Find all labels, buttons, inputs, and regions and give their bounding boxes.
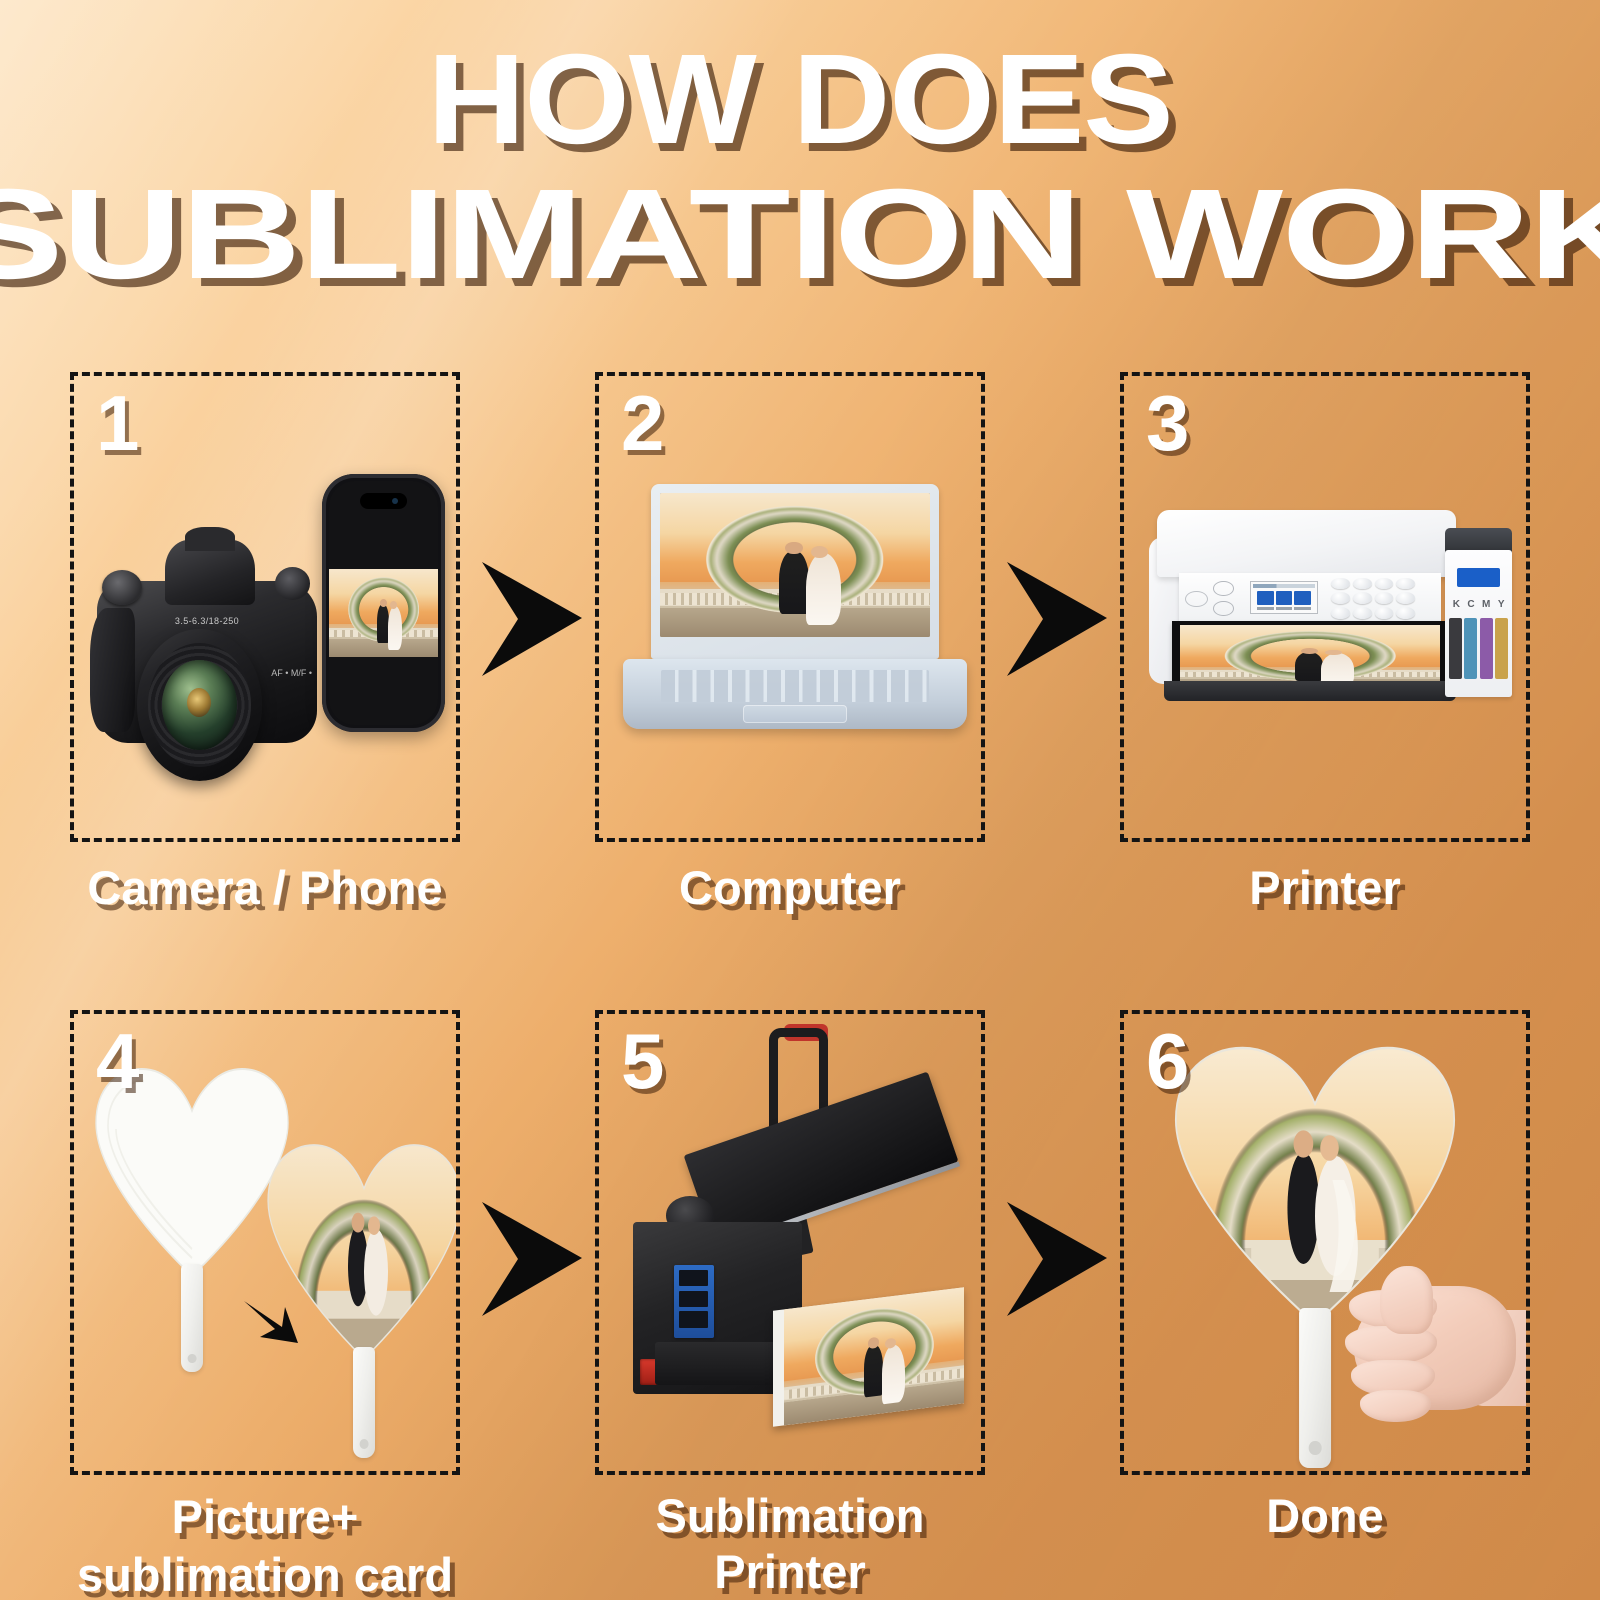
step-caption-4: Picture+ sublimation card: [70, 1488, 460, 1600]
smartphone-icon: [322, 474, 445, 732]
step-panel-2: 2: [595, 372, 985, 842]
heart-fan-handle-printed: [353, 1347, 375, 1459]
camera-lens: [137, 629, 262, 780]
title-line-1: HOW DOES: [0, 34, 1600, 166]
camera-lens-glass: [162, 660, 237, 751]
printer-home-button[interactable]: [1213, 581, 1233, 596]
printer-output-tray: [1172, 621, 1449, 688]
ink-window-k: [1449, 618, 1462, 680]
step-number-1: 1: [96, 384, 139, 462]
step-number-2: 2: [621, 384, 664, 462]
printer-tank-indicator: [1457, 568, 1500, 587]
camera-af-label: AF • M/F •: [271, 667, 312, 679]
transfer-arrow-icon: [242, 1297, 300, 1345]
printer-printed-photo: [1180, 625, 1440, 688]
ink-window-y: [1495, 618, 1508, 680]
camera-grip: [90, 608, 135, 732]
camera-hotshoe: [185, 527, 235, 551]
laptop-base: [623, 659, 967, 729]
heart-fan-handle-blank: [181, 1264, 203, 1372]
step-card-1: 3.5-6.3/18-250 AF • M/F •: [70, 372, 460, 972]
step-card-2: 2 Computer: [595, 372, 985, 972]
phone-dynamic-island: [360, 493, 408, 509]
printer-stop-button[interactable]: [1213, 601, 1233, 616]
phone-wedding-photo: [329, 569, 438, 657]
ink-window-c: [1464, 618, 1477, 680]
laptop-lid: [651, 484, 940, 659]
printer-ink-tank-unit: K C M Y: [1445, 550, 1512, 697]
laptop-trackpad: [743, 705, 846, 723]
camera-shutter-dial: [275, 567, 310, 599]
step-number-3: 3: [1146, 384, 1189, 462]
press-sheet-photo: [784, 1287, 964, 1425]
camera-mode-dial: [102, 570, 142, 605]
step-caption-2: Computer: [595, 860, 985, 916]
laptop-keyboard: [661, 670, 929, 702]
dslr-camera-icon: 3.5-6.3/18-250 AF • M/F •: [82, 516, 332, 786]
heat-press-icon: [611, 1024, 979, 1454]
phone-screen: [329, 481, 438, 725]
step-panel-1: 3.5-6.3/18-250 AF • M/F •: [70, 372, 460, 842]
step-number-4: 4: [96, 1022, 139, 1100]
step-panel-6: 6: [1120, 1010, 1530, 1475]
step-panel-3: K C M Y: [1120, 372, 1530, 842]
printer-tray-lip: [1164, 681, 1456, 701]
printer-ink-windows: [1449, 618, 1508, 680]
laptop-wedding-photo: [660, 493, 931, 637]
infographic-poster: HOW DOES SUBLIMATION WORK: [0, 0, 1600, 1600]
ink-label-y: Y: [1498, 599, 1505, 610]
step-number-6: 6: [1146, 1022, 1189, 1100]
press-digital-controller[interactable]: [674, 1265, 714, 1338]
arrow-step1-to-step2-icon: [478, 558, 586, 680]
step-card-4: 4 Picture+ sublimation card: [70, 1010, 460, 1600]
step-panel-4: 4: [70, 1010, 460, 1475]
camera-lens-label: 3.5-6.3/18-250: [147, 616, 267, 626]
steps-grid: 3.5-6.3/18-250 AF • M/F •: [0, 360, 1600, 1600]
step-card-6: 6 Done: [1120, 1010, 1530, 1600]
printer-scanner-lid: [1157, 510, 1456, 577]
title-line-2: SUBLIMATION WORK: [0, 166, 1600, 304]
hand-little-finger: [1360, 1390, 1430, 1422]
arrow-step2-to-step3-icon: [1003, 558, 1111, 680]
printer-control-panel: [1179, 573, 1441, 624]
step-caption-5: Sublimation Printer: [595, 1488, 985, 1600]
ink-window-m: [1480, 618, 1493, 680]
printer-keypad[interactable]: [1331, 578, 1415, 619]
poster-title: HOW DOES SUBLIMATION WORK: [0, 34, 1600, 304]
step-card-5: 5 Sublimation Printer: [595, 1010, 985, 1600]
arrow-step4-to-step5-icon: [478, 1198, 586, 1320]
step-caption-6: Done: [1120, 1488, 1530, 1544]
step-caption-3: Printer: [1120, 860, 1530, 916]
ink-label-c: C: [1467, 599, 1474, 610]
step-caption-1: Camera / Phone: [70, 860, 460, 916]
printer-lcd-screen: [1250, 581, 1318, 615]
laptop-icon: [623, 484, 967, 734]
step-number-5: 5: [621, 1022, 664, 1100]
laptop-display: [660, 493, 931, 637]
inkjet-printer-icon: K C M Y: [1142, 506, 1516, 728]
hand-thumb: [1380, 1266, 1433, 1334]
ink-label-m: M: [1482, 599, 1490, 610]
arrow-step5-to-step6-icon: [1003, 1198, 1111, 1320]
ink-label-k: K: [1453, 599, 1460, 610]
printer-ink-labels: K C M Y: [1449, 599, 1508, 610]
printer-power-button[interactable]: [1185, 591, 1208, 607]
press-transfer-sheet: [773, 1287, 964, 1427]
hand-icon: [1314, 1250, 1526, 1450]
step-panel-5: 5: [595, 1010, 985, 1475]
step-card-3: K C M Y: [1120, 372, 1530, 972]
